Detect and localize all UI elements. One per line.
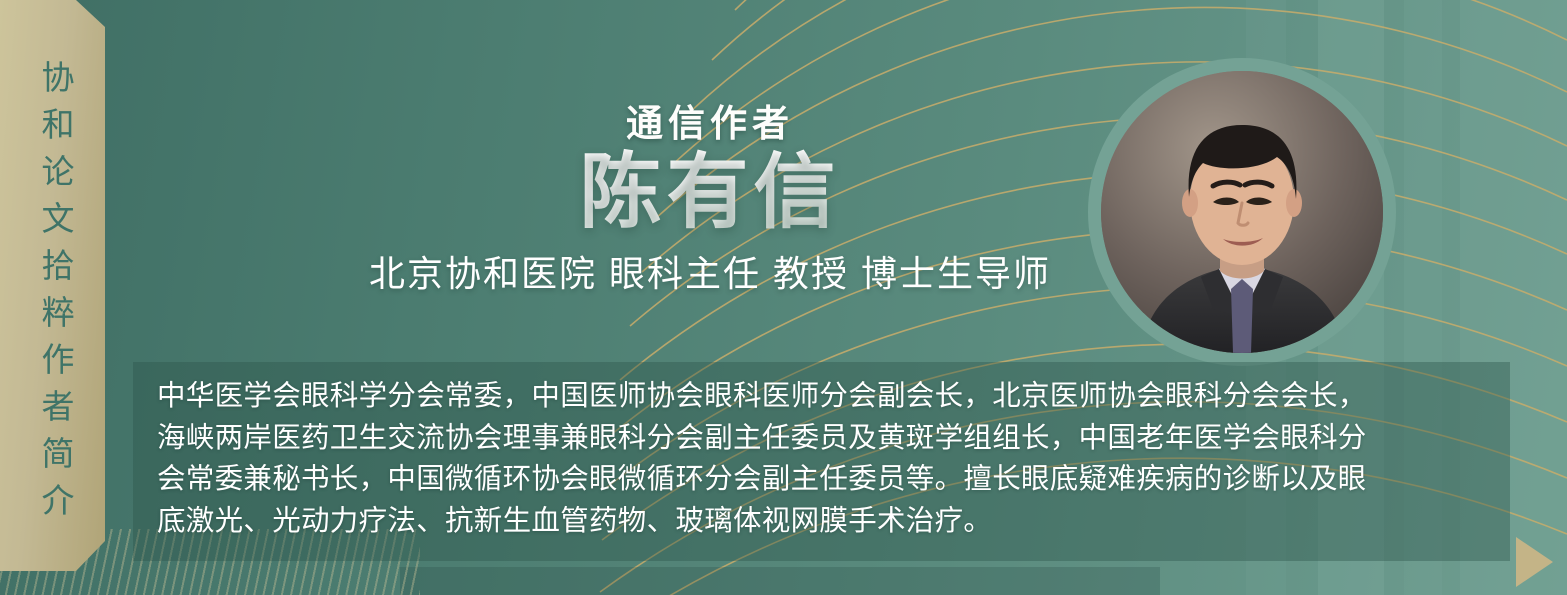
play-triangle-icon[interactable] [1516,537,1553,587]
portrait-photo [1101,71,1383,353]
author-portrait [1088,58,1396,366]
bio-line: 底激光、光动力疗法、抗新生血管药物、玻璃体视网膜手术治疗。 [157,501,1488,543]
bio-line: 中华医学会眼科学分会常委，中国医师协会眼科医师分会副会长，北京医师协会眼科分会会… [157,376,1488,418]
series-ribbon: 协和论文拾粹作者简介 [0,0,105,571]
author-role-kicker: 通信作者 [330,104,1090,145]
author-titles: 北京协和医院 眼科主任 教授 博士生导师 [330,245,1090,297]
headline-block: 通信作者 陈有信 北京协和医院 眼科主任 教授 博士生导师 [330,104,1090,297]
author-bio-panel: 中华医学会眼科学分会常委，中国医师协会眼科医师分会副会长，北京医师协会眼科分会会… [133,362,1510,561]
author-profile-banner: 协和论文拾粹作者简介 [0,0,1567,595]
author-name: 陈有信 [330,147,1090,239]
bio-line: 会常委兼秘书长，中国微循环协会眼微循环分会副主任委员等。擅长眼底疑难疾病的诊断以… [157,459,1488,501]
background-dark-strip [400,567,1160,595]
bio-line: 海峡两岸医药卫生交流协会理事兼眼科分会副主任委员及黄斑学组组长，中国老年医学会眼… [157,418,1488,460]
series-ribbon-label: 协和论文拾粹作者简介 [39,42,72,530]
